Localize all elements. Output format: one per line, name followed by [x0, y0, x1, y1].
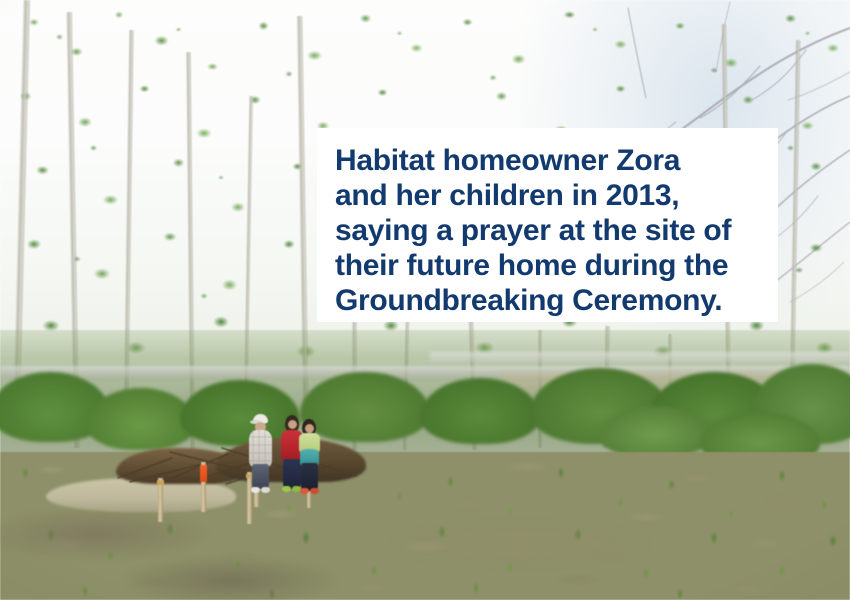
head	[288, 420, 297, 429]
leggings	[301, 463, 318, 491]
head	[305, 424, 314, 433]
jeans	[252, 464, 269, 489]
distant-road-upper	[430, 352, 850, 364]
person-in-cap	[247, 414, 275, 494]
stake-flag	[157, 480, 164, 485]
survey-stake	[158, 478, 163, 522]
stake-flag	[200, 465, 207, 482]
shoe	[310, 488, 319, 494]
caption-box: Habitat homeowner Zora and her children …	[317, 128, 778, 322]
shoe	[261, 487, 270, 493]
dirt-patch	[390, 520, 650, 568]
brush-pile-sticks	[110, 430, 380, 492]
person-in-green	[297, 419, 322, 495]
photo-with-caption: Habitat homeowner Zora and her children …	[0, 0, 850, 600]
caption-text: Habitat homeowner Zora and her children …	[335, 143, 760, 318]
shoe	[251, 487, 260, 493]
survey-stake	[201, 462, 206, 512]
shoe	[300, 488, 309, 494]
dirt-patch	[120, 556, 340, 600]
plaid-pattern	[249, 430, 272, 467]
shoe	[282, 486, 291, 492]
